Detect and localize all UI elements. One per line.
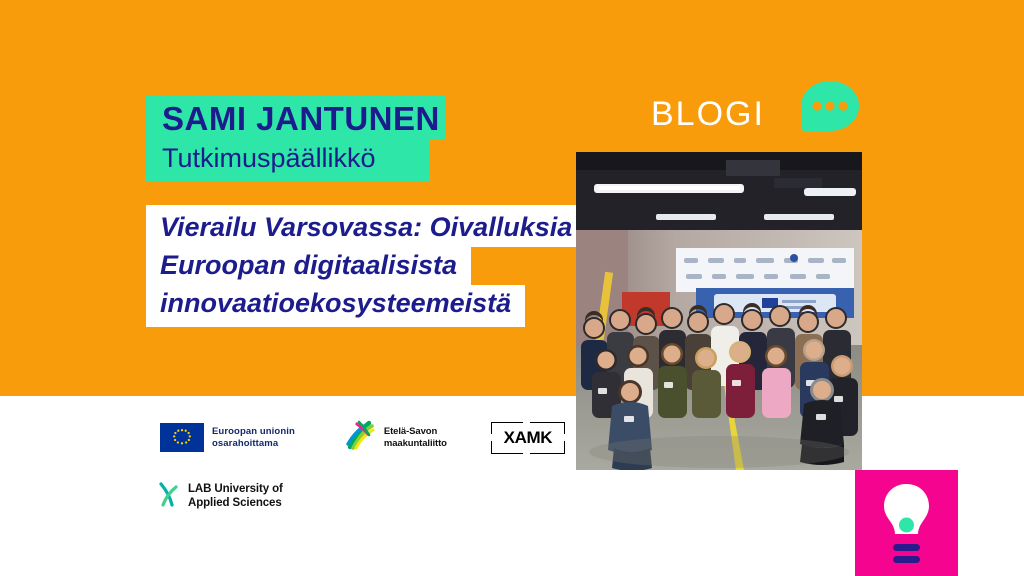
lab-mark-icon (158, 481, 180, 512)
lab-university-logo-text: LAB University of Applied Sciences (188, 483, 283, 511)
etela-savon-line-1: Etelä-Savon (384, 426, 447, 438)
speaker-name: SAMI JANTUNEN (162, 102, 430, 135)
lab-line-2: Applied Sciences (188, 497, 283, 511)
xamk-notch-bottom (523, 450, 530, 457)
eu-flag-icon (160, 423, 204, 452)
speaker-role-block: Tutkimuspäällikkö (146, 140, 430, 181)
speech-bubble-icon (801, 81, 859, 133)
lightbulb-badge (855, 470, 958, 576)
xamk-logo-box: XAMK (491, 422, 565, 454)
lab-line-1: LAB University of (188, 483, 283, 497)
group-photo (576, 152, 862, 470)
article-title-line-1: Vierailu Varsovassa: Oivalluksia (146, 205, 586, 247)
article-title: Vierailu Varsovassa: Oivalluksia Euroopa… (146, 205, 586, 327)
etela-savon-logo-text: Etelä-Savon maakuntaliitto (384, 426, 447, 449)
xamk-logo-text: XAMK (504, 428, 552, 448)
xamk-notch-right (561, 434, 568, 441)
xamk-notch-top (523, 419, 530, 426)
article-title-line-2: Euroopan digitaalisista (146, 247, 471, 285)
etela-savo-mark-icon (343, 418, 377, 457)
funder-logos-row-1: Euroopan unionin osarahoittama Etelä-Sav… (160, 418, 565, 457)
eu-funding-line-1: Euroopan unionin (212, 426, 295, 438)
eu-funding-logo: Euroopan unionin osarahoittama (160, 423, 295, 452)
eu-funding-logo-text: Euroopan unionin osarahoittama (212, 426, 295, 450)
xamk-logo: XAMK (491, 422, 565, 454)
blog-promo-card: SAMI JANTUNEN Tutkimuspäällikkö BLOGI Vi… (0, 0, 1024, 576)
etela-savon-line-2: maakuntaliitto (384, 438, 447, 450)
speaker-name-block: SAMI JANTUNEN (146, 96, 446, 139)
hero-background (0, 0, 1024, 396)
speaker-role: Tutkimuspäällikkö (162, 144, 414, 174)
xamk-notch-left (488, 434, 495, 441)
funder-logos-row-2: LAB University of Applied Sciences (158, 481, 283, 512)
etela-savon-maakuntaliitto-logo: Etelä-Savon maakuntaliitto (343, 418, 447, 457)
article-title-line-3: innovaatioekosysteemeistä (146, 285, 525, 327)
eu-funding-line-2: osarahoittama (212, 438, 295, 450)
category-label: BLOGI (651, 97, 765, 131)
lab-university-logo: LAB University of Applied Sciences (158, 481, 283, 512)
